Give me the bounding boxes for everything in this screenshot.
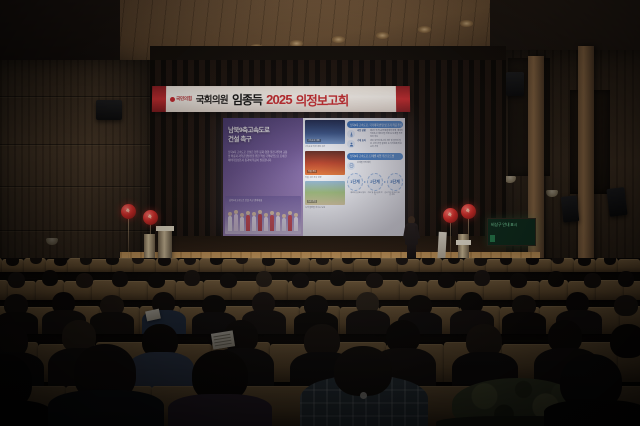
balloon-icon: 축 <box>121 204 136 219</box>
slide-row-label: 기대 효과 <box>357 140 368 143</box>
slide-title: 남북9축고속도로 건설 촉구 <box>228 127 290 144</box>
exit-sign: 비상구 안내 표시 <box>487 218 536 246</box>
flower-stand <box>458 234 469 261</box>
banner-event-title: 의정보고회 <box>296 90 349 109</box>
slide-content-panel: 고속도로 개통 고속도로 야간 개통 구간 터널 공사 터널 구간 공사 현장 … <box>303 118 405 236</box>
slide-thumb-tag: 도로 건설 <box>307 200 317 203</box>
banner-person-name: 임종득 <box>232 91 262 108</box>
photo-people-row <box>228 214 298 231</box>
roadmap-step: 1단계 <box>347 173 363 191</box>
slide-photo-caption: 남북9축고속도로 건설 촉구 결의대회 <box>229 198 262 202</box>
banner-right-accent <box>396 86 410 112</box>
slide-section1-header: 남북9축 고속도로, 국가계획 반영 및 조기 착공 추진 <box>347 121 403 128</box>
roadmap-step-label: 기본 및 실시설계 착수 <box>367 192 383 197</box>
roadmap-step-label: 예비타당성조사 통과 <box>350 192 366 197</box>
slide-section1-row: 추진 현황 제2차 국가도로망종합계획 반영, 예비타당성조사 대상사업 선정 … <box>347 130 403 138</box>
slide-group-photo: 남북9축고속도로 건설 촉구 결의대회 <box>225 196 301 234</box>
balloon-icon: 축 <box>443 208 458 223</box>
slide-thumb-tag: 터널 공사 <box>307 170 317 173</box>
slide-section2-header: 남북9축 고속도로, 단계별 사업 추진 로드맵 <box>347 153 403 160</box>
slide-thumb-caption: 고속도로 야간 개통 구간 <box>305 146 345 149</box>
slide-section1-row: 기대 효과 경북 북부권 접근성 개선 및 물류비 절감, 관광·산업 활성화 … <box>347 140 403 148</box>
downlight-icon <box>332 36 345 43</box>
person-icon <box>347 140 355 148</box>
slide-thumb-caption: 녹색 들판을 지나는 도로 <box>305 207 345 210</box>
left-decor-group: 축 축 <box>120 200 180 262</box>
balloon-icon: 축 <box>143 210 158 225</box>
slide-section2-note: 단계별 추진계획 <box>357 162 370 165</box>
wall-speaker-icon <box>606 187 627 217</box>
slide-thumb-caption: 터널 구간 공사 현장 <box>305 177 345 180</box>
projection-screen: 남북9축고속도로 건설 촉구 남북9축 고속도로 건설은 영주·봉화·영양·울진… <box>223 118 405 236</box>
checklist-icon <box>347 162 355 170</box>
slide-body-text: 남북9축 고속도로 건설은 영주·봉화·영양·울진 지역의 교통망 확충과 지역… <box>228 151 288 163</box>
party-name-label: 국민의힘 <box>176 96 192 102</box>
slide-thumb-image: 고속도로 개통 <box>305 120 345 144</box>
banner-role-label: 국회의원 <box>196 92 228 106</box>
exit-sign-text: 비상구 안내 표시 <box>491 222 517 228</box>
slide-title-panel: 남북9축고속도로 건설 촉구 남북9축 고속도로 건설은 영주·봉화·영양·울진… <box>223 118 303 236</box>
roadmap-step: 3단계 <box>387 173 403 191</box>
wall-speaker-icon <box>561 195 580 223</box>
slide-row-label: 추진 현황 <box>357 130 368 133</box>
auditorium-photo: 국민의힘 국회의원 임종득 2025 의정보고회 남북9축고속도로 건설 촉구 … <box>0 0 640 426</box>
downlight-icon <box>376 32 389 39</box>
audience-darkening <box>0 258 640 426</box>
slide-thumb-image: 도로 건설 <box>305 181 345 205</box>
slide-thumb-tag: 고속도로 개통 <box>307 139 321 142</box>
flower-stand <box>144 234 155 260</box>
downlight-icon <box>460 20 473 27</box>
wall-speaker-icon <box>506 72 524 96</box>
wall-speaker-icon <box>96 100 122 120</box>
slide-row-text: 경북 북부권 접근성 개선 및 물류비 절감, 관광·산업 활성화 등 지역경제… <box>370 140 403 148</box>
event-banner: 국민의힘 국회의원 임종득 2025 의정보고회 <box>152 86 410 112</box>
banner-left-accent <box>152 86 166 112</box>
audience-area <box>0 258 640 426</box>
slide-thumbnail-column: 고속도로 개통 고속도로 야간 개통 구간 터널 공사 터널 구간 공사 현장 … <box>305 120 345 212</box>
roadmap-step: 2단계 <box>367 173 383 191</box>
banner-year: 2025 <box>266 92 292 107</box>
road-icon <box>347 130 355 138</box>
exit-door-icon <box>490 235 495 242</box>
downlight-icon <box>418 26 431 33</box>
slide-roadmap-labels: 예비타당성조사 통과 기본 및 실시설계 착수 공사 착공 및 조기 완공 추진 <box>347 192 403 197</box>
roadmap-step-label: 공사 착공 및 조기 완공 추진 <box>384 192 400 197</box>
balloon-icon: 축 <box>461 204 476 219</box>
arrow-right-icon: ▸ <box>384 179 386 184</box>
slide-roadmap: 1단계 ▸ 2단계 ▸ 3단계 <box>347 173 403 191</box>
slide-section2-note-row: 단계별 추진계획 <box>347 162 403 170</box>
slide-row-text: 제2차 국가도로망종합계획 반영, 예비타당성조사 대상사업 선정 등 단계별 … <box>370 130 403 138</box>
stage-speaker-person <box>404 216 419 260</box>
party-logo-icon: 국민의힘 <box>170 96 192 102</box>
slide-thumb-image: 터널 공사 <box>305 151 345 175</box>
presentation-slide: 남북9축고속도로 건설 촉구 남북9축 고속도로 건설은 영주·봉화·영양·울진… <box>223 118 405 236</box>
arrow-right-icon: ▸ <box>364 179 366 184</box>
